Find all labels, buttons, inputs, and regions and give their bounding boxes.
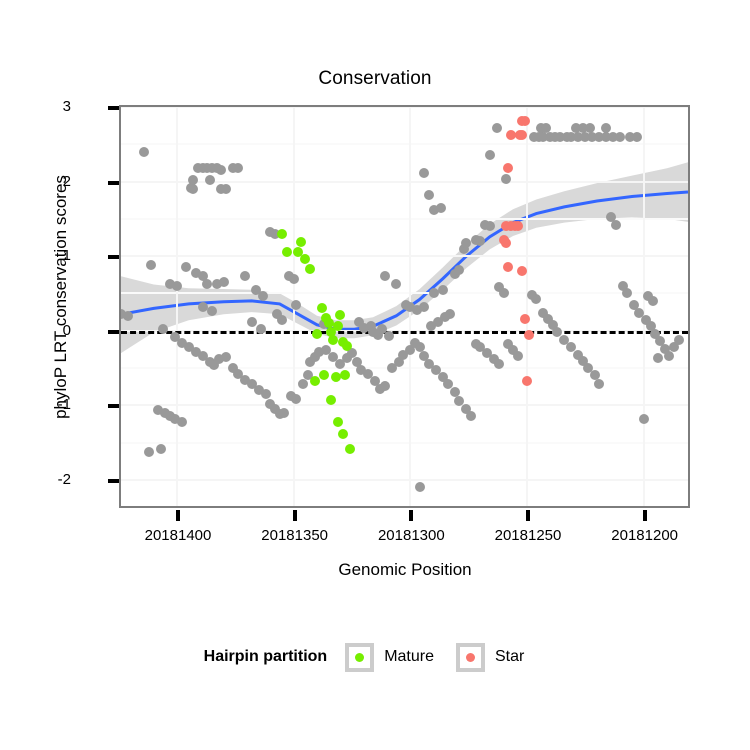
data-point-mature [305,264,315,274]
data-point-mature [282,247,292,257]
data-point-mature [277,229,287,239]
data-point-other [123,311,133,321]
data-point-other [156,444,166,454]
y-tick [108,404,119,408]
y-tick [108,181,119,185]
gridline-y-minor [121,218,688,220]
data-point-mature [338,429,348,439]
legend-key-star [456,643,485,672]
x-axis: 2018140020181350201813002018125020181200 [119,510,690,550]
data-point-other [513,351,523,361]
y-tick-label: 1 [31,248,71,263]
data-point-mature [345,444,355,454]
legend-title: Hairpin partition [204,648,328,666]
y-tick-label: 3 [31,99,71,114]
y-axis: -2-10123 [79,105,119,508]
data-point-mature [296,237,306,247]
data-point-other [653,353,663,363]
legend-item-mature[interactable]: Mature [345,643,456,672]
data-point-other [289,274,299,284]
data-point-other [258,291,268,301]
data-point-star [503,262,513,272]
gridline-x [176,107,178,506]
data-point-other [674,335,684,345]
chart-root: Conservation phyloP LRT conservation sco… [0,0,750,750]
data-point-mature [317,303,327,313]
data-point-other [291,300,301,310]
plot-area [121,107,688,506]
legend: Hairpin partition Mature Star [0,640,750,674]
data-point-other [438,285,448,295]
x-tick [409,510,413,521]
legend-key-mature [345,643,374,672]
data-point-other [494,359,504,369]
data-point-mature [333,321,343,331]
gridline-x [526,107,528,506]
y-tick [108,479,119,483]
data-point-other [240,271,250,281]
data-point-other [261,389,271,399]
data-point-other [247,317,257,327]
x-tick-label: 20181300 [356,528,466,543]
y-tick-label: 0 [31,323,71,338]
data-point-other [181,262,191,272]
x-tick-label: 20181250 [473,528,583,543]
gridline-y-minor [121,442,688,444]
gridline-y-minor [121,143,688,145]
x-tick-label: 20181200 [590,528,700,543]
data-point-star [522,376,532,386]
star-dot-icon [466,653,475,662]
data-point-other [172,281,182,291]
data-point-other [380,381,390,391]
x-tick-label: 20181400 [123,528,233,543]
gridline-y [121,404,688,406]
data-point-other [639,414,649,424]
data-point-mature [310,376,320,386]
y-tick-label: -1 [31,397,71,412]
gridline-y-minor [121,367,688,369]
gridline-y [121,479,688,481]
gridline-y-minor [121,292,688,294]
gridline-y [121,106,688,108]
data-point-other [454,265,464,275]
y-tick-label: -2 [31,472,71,487]
plot-panel [119,105,690,508]
data-point-other [466,411,476,421]
data-point-star [520,314,530,324]
x-axis-title: Genomic Position [119,560,691,580]
data-point-other [485,150,495,160]
data-point-other [611,220,621,230]
data-point-mature [312,329,322,339]
zero-reference-line [121,331,688,334]
x-tick [643,510,647,521]
data-point-other [256,324,266,334]
data-point-other [216,165,226,175]
page-title: Conservation [0,68,750,90]
gridline-x [643,107,645,506]
data-point-other [419,168,429,178]
data-point-other [485,221,495,231]
data-point-star [520,116,530,126]
data-point-other [221,352,231,362]
x-tick-label: 20181350 [240,528,350,543]
data-point-star [513,221,523,231]
data-point-other [648,296,658,306]
y-tick [108,330,119,334]
x-tick [293,510,297,521]
legend-label-mature: Mature [384,648,434,666]
data-point-other [380,271,390,281]
data-point-other [632,132,642,142]
mature-dot-icon [355,653,364,662]
y-tick [108,255,119,259]
data-point-other [221,184,231,194]
smooth-confidence-band [121,162,688,353]
y-tick [108,106,119,110]
legend-label-star: Star [495,648,524,666]
data-point-other [219,277,229,287]
x-tick [176,510,180,521]
data-point-other [424,190,434,200]
data-point-other [205,175,215,185]
gridline-y [121,255,688,257]
data-point-other [177,417,187,427]
data-point-star [501,238,511,248]
legend-item-star[interactable]: Star [456,643,546,672]
data-point-mature [333,417,343,427]
data-point-other [415,482,425,492]
y-tick-label: 2 [31,174,71,189]
data-point-other [501,174,511,184]
data-point-other [144,447,154,457]
data-point-other [492,123,502,133]
y-axis-title: phyloP LRT conservation scores [51,97,71,497]
x-tick [526,510,530,521]
data-point-other [233,163,243,173]
